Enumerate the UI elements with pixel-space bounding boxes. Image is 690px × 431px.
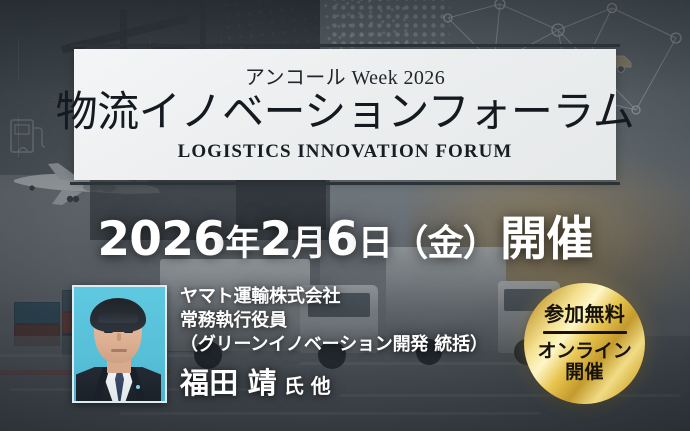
date-held-label: 開催 [500,212,593,267]
speaker-given-name: 靖 [248,366,277,400]
date-year: 2026 [97,212,225,267]
portrait-lapel-pin [136,385,140,389]
speaker-details: ヤマト運輸株式会社 常務執行役員 （グリーンイノベーション開発 統括） 福田靖氏… [180,285,520,402]
page-title: 物流イノベーションフォーラム [56,90,635,137]
portrait-nose [117,333,121,341]
event-date: 2026年2月6日（金）開催 [0,200,690,269]
speaker-portrait [72,285,167,403]
status-badge-free-online: 参加無料 オンライン 開催 [524,283,645,404]
date-day: 6 [326,212,358,267]
portrait-hair [90,298,146,332]
portrait-mouth [111,349,127,352]
speaker-department: （グリーンイノベーション開発 統括） [180,333,520,357]
title-subtitle-english: LOGISTICS INNOVATION FORUM [178,142,513,163]
speaker-name: 福田靖氏他 [180,360,520,402]
date-day-unit: 日 [358,224,392,264]
speaker-company: ヤマト運輸株式会社 [180,285,520,309]
date-weekday: （金） [392,223,498,264]
badge-free-label: 参加無料 [544,304,625,324]
event-kicker: アンコール Week 2026 [245,67,445,89]
date-month: 2 [260,212,292,267]
speaker-title: 常務執行役員 [180,309,520,333]
date-month-unit: 月 [292,224,326,264]
badge-online-label: オンライン [537,341,631,362]
date-year-unit: 年 [225,224,259,264]
badge-divider [543,331,627,334]
speaker-family-name: 福田 [180,366,239,400]
badge-held-label: 開催 [565,362,604,383]
speaker-honorific: 氏 [284,374,305,398]
event-banner: アンコール Week 2026 物流イノベーションフォーラム LOGISTICS… [0,0,690,431]
title-panel: アンコール Week 2026 物流イノベーションフォーラム LOGISTICS… [74,49,616,180]
speaker-and-others: 他 [311,374,331,398]
